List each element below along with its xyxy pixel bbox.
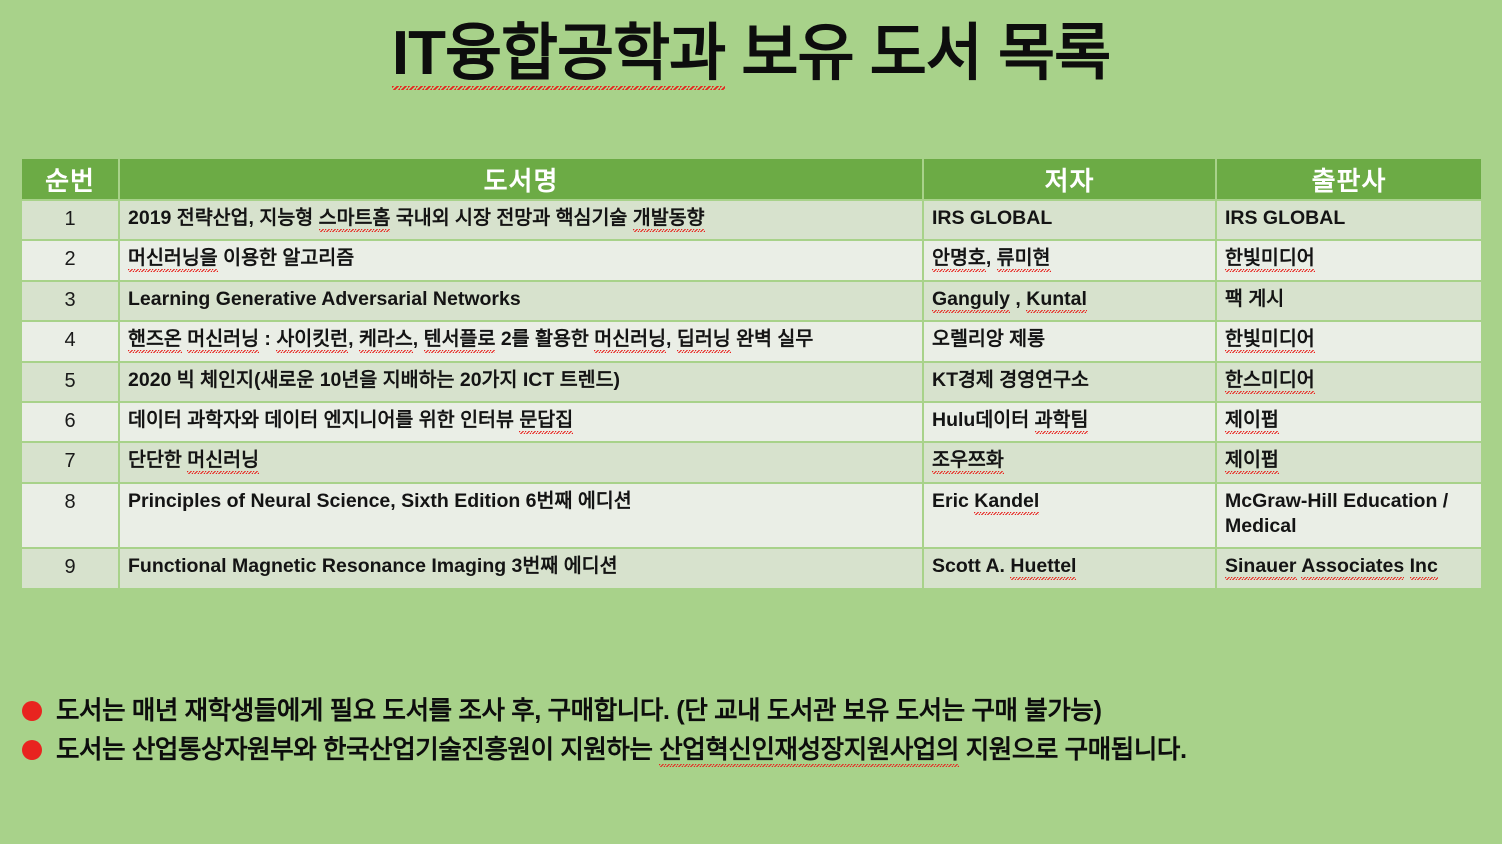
table-header: 순번 도서명 저자 출판사 <box>22 159 1481 199</box>
cell-publisher: McGraw-Hill Education / Medical <box>1217 484 1481 547</box>
cell-title: 머신러닝을 이용한 알고리즘 <box>120 241 922 279</box>
cell-index: 2 <box>22 241 118 279</box>
cell-index: 5 <box>22 363 118 401</box>
note-text: 도서는 매년 재학생들에게 필요 도서를 조사 후, 구매합니다. (단 교내 … <box>56 693 1102 729</box>
cell-publisher: 한스미디어 <box>1217 363 1481 401</box>
column-header-author: 저자 <box>924 159 1215 199</box>
table-row: 6 데이터 과학자와 데이터 엔지니어를 위한 인터뷰 문답집 Hulu데이터 … <box>22 403 1481 441</box>
cell-title: 데이터 과학자와 데이터 엔지니어를 위한 인터뷰 문답집 <box>120 403 922 441</box>
table-row: 9 Functional Magnetic Resonance Imaging … <box>22 549 1481 587</box>
table-header-row: 순번 도서명 저자 출판사 <box>22 159 1481 199</box>
cell-publisher: 제이펍 <box>1217 403 1481 441</box>
cell-author: 안명호, 류미현 <box>924 241 1215 279</box>
cell-index: 8 <box>22 484 118 547</box>
cell-author: Ganguly , Kuntal <box>924 282 1215 320</box>
note-text: 도서는 산업통상자원부와 한국산업기술진흥원이 지원하는 산업혁신인재성장지원사… <box>56 732 1187 768</box>
cell-index: 3 <box>22 282 118 320</box>
table-row: 1 2019 전략산업, 지능형 스마트홈 국내외 시장 전망과 핵심기술 개발… <box>22 201 1481 239</box>
cell-title: Learning Generative Adversarial Networks <box>120 282 922 320</box>
cell-publisher: 제이펍 <box>1217 443 1481 481</box>
cell-author: KT경제 경영연구소 <box>924 363 1215 401</box>
cell-index: 7 <box>22 443 118 481</box>
cell-title: 핸즈온 머신러닝 : 사이킷런, 케라스, 텐서플로 2를 활용한 머신러닝, … <box>120 322 922 360</box>
cell-title: 2020 빅 체인지(새로운 10년을 지배하는 20가지 ICT 트렌드) <box>120 363 922 401</box>
column-header-publisher: 출판사 <box>1217 159 1481 199</box>
column-header-title: 도서명 <box>120 159 922 199</box>
cell-author: 오렐리앙 제롱 <box>924 322 1215 360</box>
book-list-table: 순번 도서명 저자 출판사 1 2019 전략산업, 지능형 스마트홈 국내외 … <box>20 157 1483 590</box>
table-row: 5 2020 빅 체인지(새로운 10년을 지배하는 20가지 ICT 트렌드)… <box>22 363 1481 401</box>
cell-title: Principles of Neural Science, Sixth Edit… <box>120 484 922 547</box>
cell-author: Eric Kandel <box>924 484 1215 547</box>
cell-publisher: 한빛미디어 <box>1217 241 1481 279</box>
column-header-index: 순번 <box>22 159 118 199</box>
page-title-text: IT융합공학과 보유 도서 목록 <box>392 19 1110 90</box>
cell-title: 2019 전략산업, 지능형 스마트홈 국내외 시장 전망과 핵심기술 개발동향 <box>120 201 922 239</box>
table-row: 7 단단한 머신러닝 조우쯔화 제이펍 <box>22 443 1481 481</box>
cell-title: Functional Magnetic Resonance Imaging 3번… <box>120 549 922 587</box>
cell-publisher: 한빛미디어 <box>1217 322 1481 360</box>
cell-author: Scott A. Huettel <box>924 549 1215 587</box>
page-title: IT융합공학과 보유 도서 목록 <box>0 18 1502 89</box>
cell-author: Hulu데이터 과학팀 <box>924 403 1215 441</box>
table-body: 1 2019 전략산업, 지능형 스마트홈 국내외 시장 전망과 핵심기술 개발… <box>22 201 1481 588</box>
cell-author: IRS GLOBAL <box>924 201 1215 239</box>
cell-publisher: 팩 게시 <box>1217 282 1481 320</box>
note-item: 도서는 매년 재학생들에게 필요 도서를 조사 후, 구매합니다. (단 교내 … <box>22 693 1482 729</box>
table-row: 4 핸즈온 머신러닝 : 사이킷런, 케라스, 텐서플로 2를 활용한 머신러닝… <box>22 322 1481 360</box>
table-row: 2 머신러닝을 이용한 알고리즘 안명호, 류미현 한빛미디어 <box>22 241 1481 279</box>
cell-title: 단단한 머신러닝 <box>120 443 922 481</box>
table-row: 8 Principles of Neural Science, Sixth Ed… <box>22 484 1481 547</box>
bullet-dot-icon <box>22 740 42 760</box>
cell-author: 조우쯔화 <box>924 443 1215 481</box>
notes-list: 도서는 매년 재학생들에게 필요 도서를 조사 후, 구매합니다. (단 교내 … <box>22 693 1482 771</box>
note-item: 도서는 산업통상자원부와 한국산업기술진흥원이 지원하는 산업혁신인재성장지원사… <box>22 732 1482 768</box>
bullet-dot-icon <box>22 701 42 721</box>
cell-publisher: IRS GLOBAL <box>1217 201 1481 239</box>
cell-index: 1 <box>22 201 118 239</box>
cell-index: 4 <box>22 322 118 360</box>
table-row: 3 Learning Generative Adversarial Networ… <box>22 282 1481 320</box>
cell-index: 6 <box>22 403 118 441</box>
cell-publisher: Sinauer Associates Inc <box>1217 549 1481 587</box>
cell-index: 9 <box>22 549 118 587</box>
